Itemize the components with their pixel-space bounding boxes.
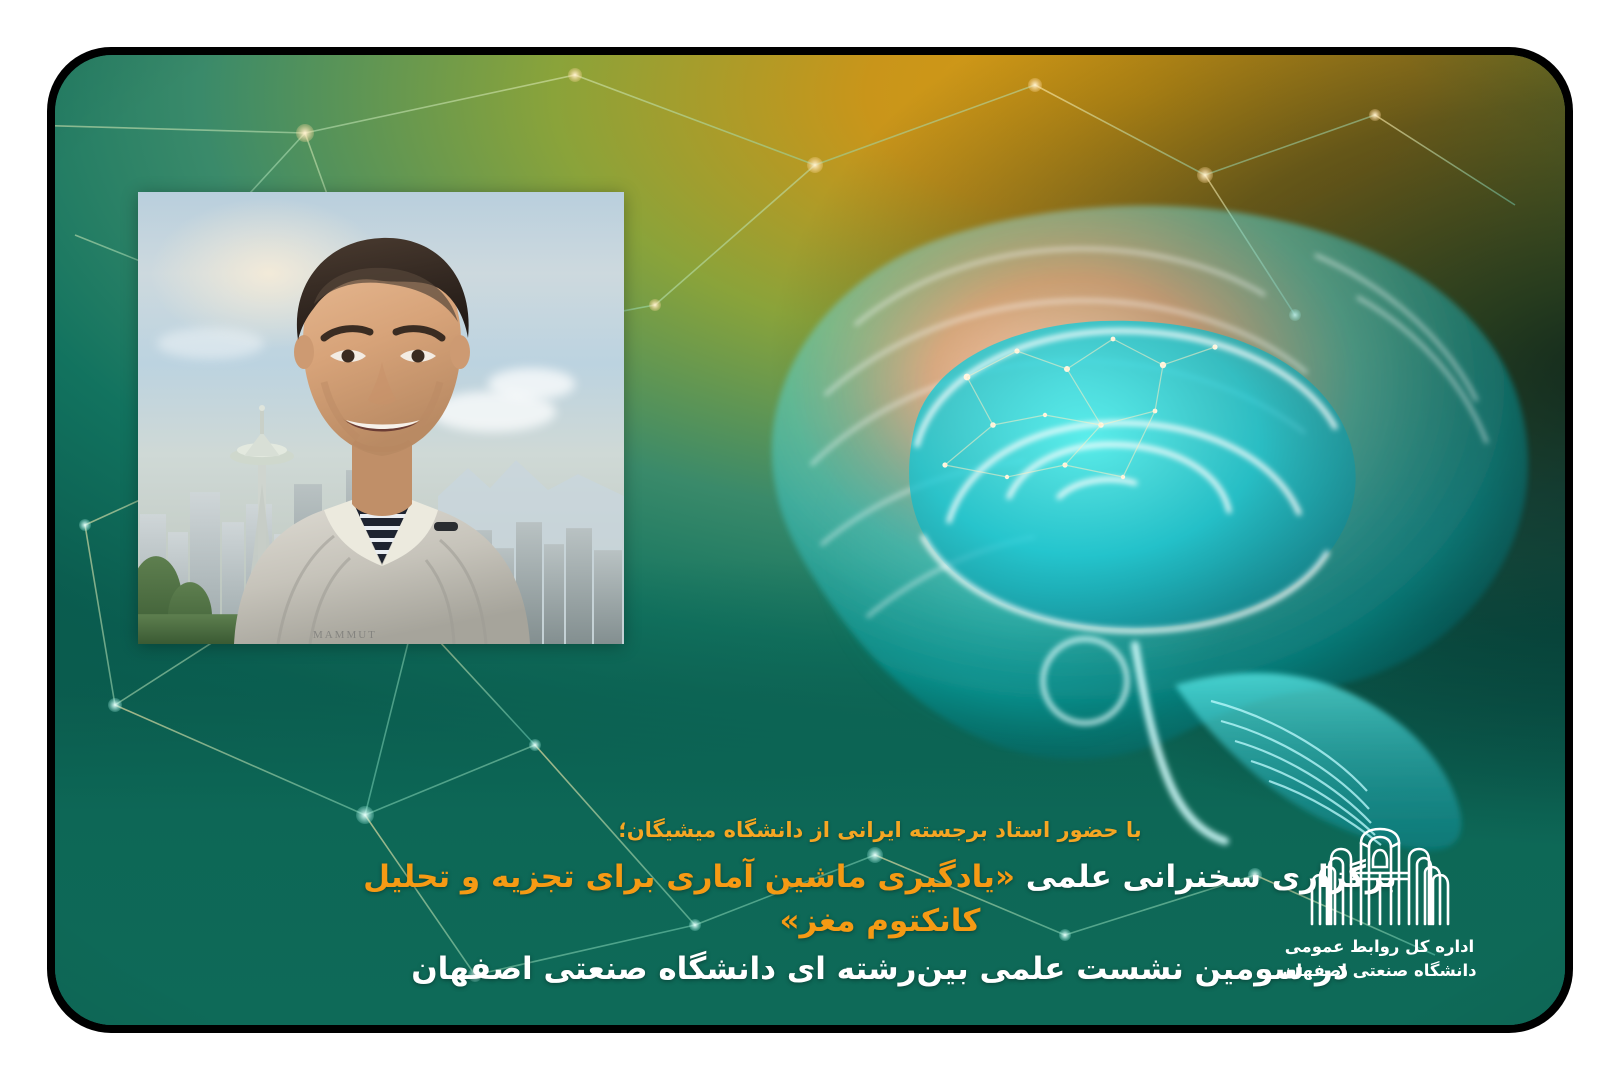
public-relations-logo: اداره کل روابط عمومی دانشگاه صنعتی اصفها… [1272, 821, 1487, 983]
speaker-figure: MAMMUT [138, 192, 624, 644]
logo-line-2: دانشگاه صنعتی اصفهان [1272, 959, 1487, 983]
isfahan-university-of-technology-icon [1285, 821, 1475, 929]
logo-line-1: اداره کل روابط عمومی [1272, 935, 1487, 959]
poster-title-quoted: «یادگیری ماشین آماری برای تجزیه و تحلیل … [363, 859, 1015, 939]
speaker-portrait: MAMMUT [138, 192, 624, 644]
poster-frame: MAMMUT با حضور استاد برجسته ایرانی از دا… [47, 47, 1573, 1033]
portrait-photo: MAMMUT [138, 192, 624, 644]
poster-canvas: MAMMUT با حضور استاد برجسته ایرانی از دا… [55, 55, 1565, 1025]
poster-page: MAMMUT با حضور استاد برجسته ایرانی از دا… [0, 0, 1620, 1080]
jacket-brand-text: MAMMUT [313, 629, 377, 641]
